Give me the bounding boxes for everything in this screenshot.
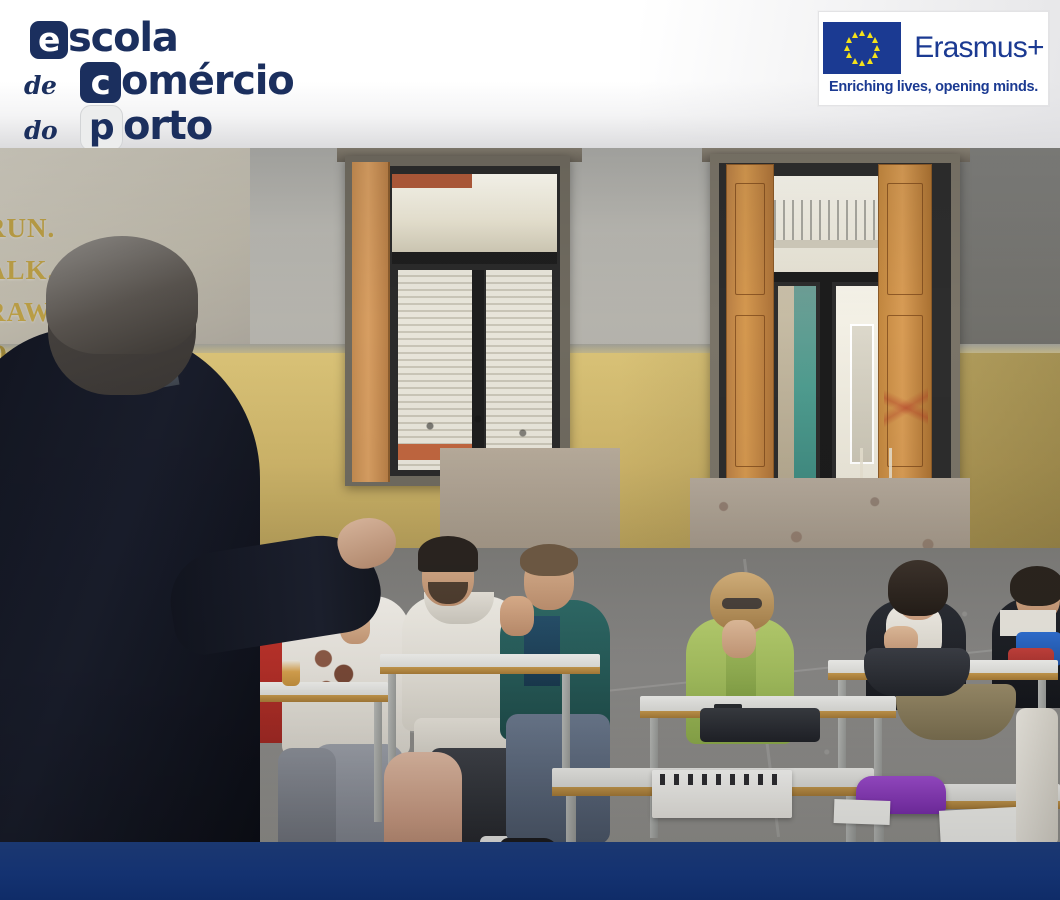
erasmus-tagline: Enriching lives, opening minds. bbox=[829, 79, 1038, 95]
logo-line-comercio: de c omércio bbox=[24, 61, 294, 104]
logo-line-porto: do p orto bbox=[24, 105, 294, 151]
logo-badge-p: p bbox=[80, 105, 123, 151]
right-window-transom-bar bbox=[774, 272, 878, 282]
eu-star-icon bbox=[846, 37, 852, 43]
logo-badge-c: c bbox=[80, 62, 121, 103]
black-bag-on-desk bbox=[864, 648, 970, 696]
logo-text-omercio: omércio bbox=[121, 61, 294, 101]
eu-star-icon bbox=[846, 52, 852, 58]
left-window-outside-roof bbox=[392, 174, 472, 188]
wall-right-grey bbox=[960, 148, 1060, 358]
eu-flag-icon bbox=[823, 22, 901, 74]
footer-brand-bar bbox=[0, 842, 1060, 900]
erasmus-wordmark: Erasmus+ bbox=[914, 31, 1043, 65]
logo-badge-e: e bbox=[30, 21, 68, 59]
desk-front-left bbox=[238, 682, 388, 704]
left-window-wood-jamb bbox=[352, 162, 390, 482]
right-shutter-left bbox=[726, 164, 774, 492]
spiral-notebook bbox=[652, 770, 792, 818]
poster-canvas: e scola de c omércio do p orto Erasmus+ … bbox=[0, 0, 1060, 900]
erasmus-plus-badge[interactable]: Erasmus+ Enriching lives, opening minds. bbox=[818, 11, 1049, 106]
logo-text-scola: scola bbox=[68, 18, 178, 58]
notebook-spiral-icon bbox=[660, 774, 782, 785]
desk-center bbox=[424, 654, 600, 676]
water-bottle bbox=[1016, 708, 1058, 842]
eu-star-icon bbox=[867, 58, 873, 64]
eu-star-icon bbox=[844, 45, 850, 51]
header-bar: e scola de c omércio do p orto Erasmus+ … bbox=[0, 0, 1060, 148]
outside-balcony-railing bbox=[774, 200, 878, 240]
logo-text-de: de bbox=[24, 73, 80, 98]
right-window-outside-facade bbox=[778, 286, 794, 486]
eu-star-icon bbox=[859, 60, 865, 66]
loose-paper-center bbox=[834, 799, 891, 825]
teacher-hair bbox=[46, 236, 198, 354]
outside-window-curtain bbox=[850, 324, 874, 464]
eu-star-icon bbox=[852, 58, 858, 64]
logo-text-do: do bbox=[24, 118, 80, 143]
pink-backpack bbox=[384, 752, 462, 842]
classroom-photo: RUN. ALK. RAWL. O ORW bbox=[0, 148, 1060, 842]
eu-star-icon bbox=[872, 52, 878, 58]
eu-star-icon bbox=[859, 30, 865, 36]
eu-star-icon bbox=[852, 32, 858, 38]
eu-star-icon bbox=[872, 37, 878, 43]
logo-text-orto: orto bbox=[123, 106, 212, 146]
erasmus-badge-row: Erasmus+ bbox=[823, 22, 1043, 74]
left-window-transom-bar bbox=[392, 252, 557, 264]
chair-back-dark bbox=[700, 708, 820, 742]
outside-balcony-slab bbox=[774, 240, 878, 248]
coffee-cup bbox=[282, 660, 300, 686]
right-window-center-rail bbox=[820, 282, 832, 487]
logo-line-escola: e scola bbox=[30, 18, 294, 59]
school-logo[interactable]: e scola de c omércio do p orto bbox=[24, 18, 294, 151]
eu-star-icon bbox=[874, 45, 880, 51]
